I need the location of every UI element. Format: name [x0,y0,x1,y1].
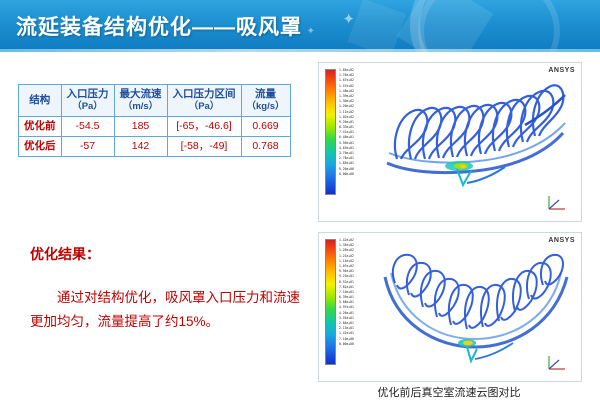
legend-label: 0.00e+00 [339,173,354,178]
conclusion-body: 通过对结构优化，吸风罩入口压力和流速更加均匀，流量提高了约15%。 [30,286,300,333]
cell-r0c2: 185 [114,117,167,137]
cell-r0c1: -54.5 [61,117,114,137]
cell-r1c3: [-58，-49] [167,137,241,157]
table-header-row: 结构 入口压力 （Pa） 最大流速 （m/s） 入口压力区间 （Pa） [19,85,291,117]
cell-r1c0: 优化后 [19,137,62,157]
header-main-3: 入口压力区间 [173,88,236,100]
results-table-wrapper: 结构 入口压力 （Pa） 最大流速 （m/s） 入口压力区间 （Pa） [18,84,291,157]
figure2-axis-triad-icon [543,353,571,373]
header-sub-1: （Pa） [67,101,109,113]
figure1-axis-triad-icon [543,193,571,213]
table-header-cell-pressure-range: 入口压力区间 （Pa） [167,85,241,117]
figure1-brand-label: ANSYS [548,67,575,74]
figure2-colorbar-gradient [325,239,336,365]
table-header-cell-structure: 结构 [19,85,62,117]
page-title: 流延装备结构优化——吸风罩 [16,11,302,41]
figure1-colorbar: 1.85e+02 1.76e+02 1.67e+02 1.57e+02 1.48… [325,69,377,195]
header-decoration-circle-large [410,0,600,52]
slide: ✦ ✦ 流延装备结构优化——吸风罩 结构 入口压力 （Pa） 最大流速 [0,0,600,410]
table-row: 优化后 -57 142 [-58，-49] 0.768 [19,137,291,157]
header-underline [0,49,600,52]
cell-r0c0: 优化前 [19,117,62,137]
figures-caption: 优化前后真空室流速云图对比 [318,384,580,400]
header-main-1: 入口压力 [67,88,109,100]
table-row: 优化前 -54.5 185 [-65，-46.6] 0.669 [19,117,291,137]
cell-r1c2: 142 [114,137,167,157]
figure2-colorbar: 1.42e+02 1.35e+02 1.28e+02 1.21e+02 1.14… [325,239,377,365]
header-decoration-square-large [397,0,493,52]
cell-r0c4: 0.669 [241,117,290,137]
figure2-brand-label: ANSYS [548,237,575,244]
header-sub-3: （Pa） [173,101,236,113]
cell-r0c3: [-65，-46.6] [167,117,241,137]
table-header-cell-inlet-pressure: 入口压力 （Pa） [61,85,114,117]
sparkle-icon: ✦ [342,10,355,28]
cfd-figure-before: 1.85e+02 1.76e+02 1.67e+02 1.57e+02 1.48… [318,62,582,222]
figure1-colorbar-labels: 1.85e+02 1.76e+02 1.67e+02 1.57e+02 1.48… [339,69,354,178]
header-main-4: 流量 [255,88,276,100]
sparkle-small-icon: ✦ [307,26,315,37]
header-decoration-circle-small [418,0,560,52]
header-sub-2: （m/s） [120,101,162,113]
header-main-2: 最大流速 [120,88,162,100]
table-header-cell-max-velocity: 最大流速 （m/s） [114,85,167,117]
figure1-colorbar-gradient [325,69,336,195]
header-decoration-square-small [348,0,407,52]
legend-label: 0.00e+00 [339,343,354,348]
figure2-colorbar-labels: 1.42e+02 1.35e+02 1.28e+02 1.21e+02 1.14… [339,239,354,348]
header-sub-4: （kg/s） [247,101,285,113]
cell-r1c4: 0.768 [241,137,290,157]
table-header-cell-flow-rate: 流量 （kg/s） [241,85,290,117]
slide-header: ✦ ✦ 流延装备结构优化——吸风罩 [0,0,600,52]
results-table: 结构 入口压力 （Pa） 最大流速 （m/s） 入口压力区间 （Pa） [18,84,291,157]
conclusion-title: 优化结果： [30,244,100,264]
cfd-figure-after: 1.42e+02 1.35e+02 1.28e+02 1.21e+02 1.14… [318,232,582,382]
cell-r1c1: -57 [61,137,114,157]
header-main-0: 结构 [29,94,50,106]
